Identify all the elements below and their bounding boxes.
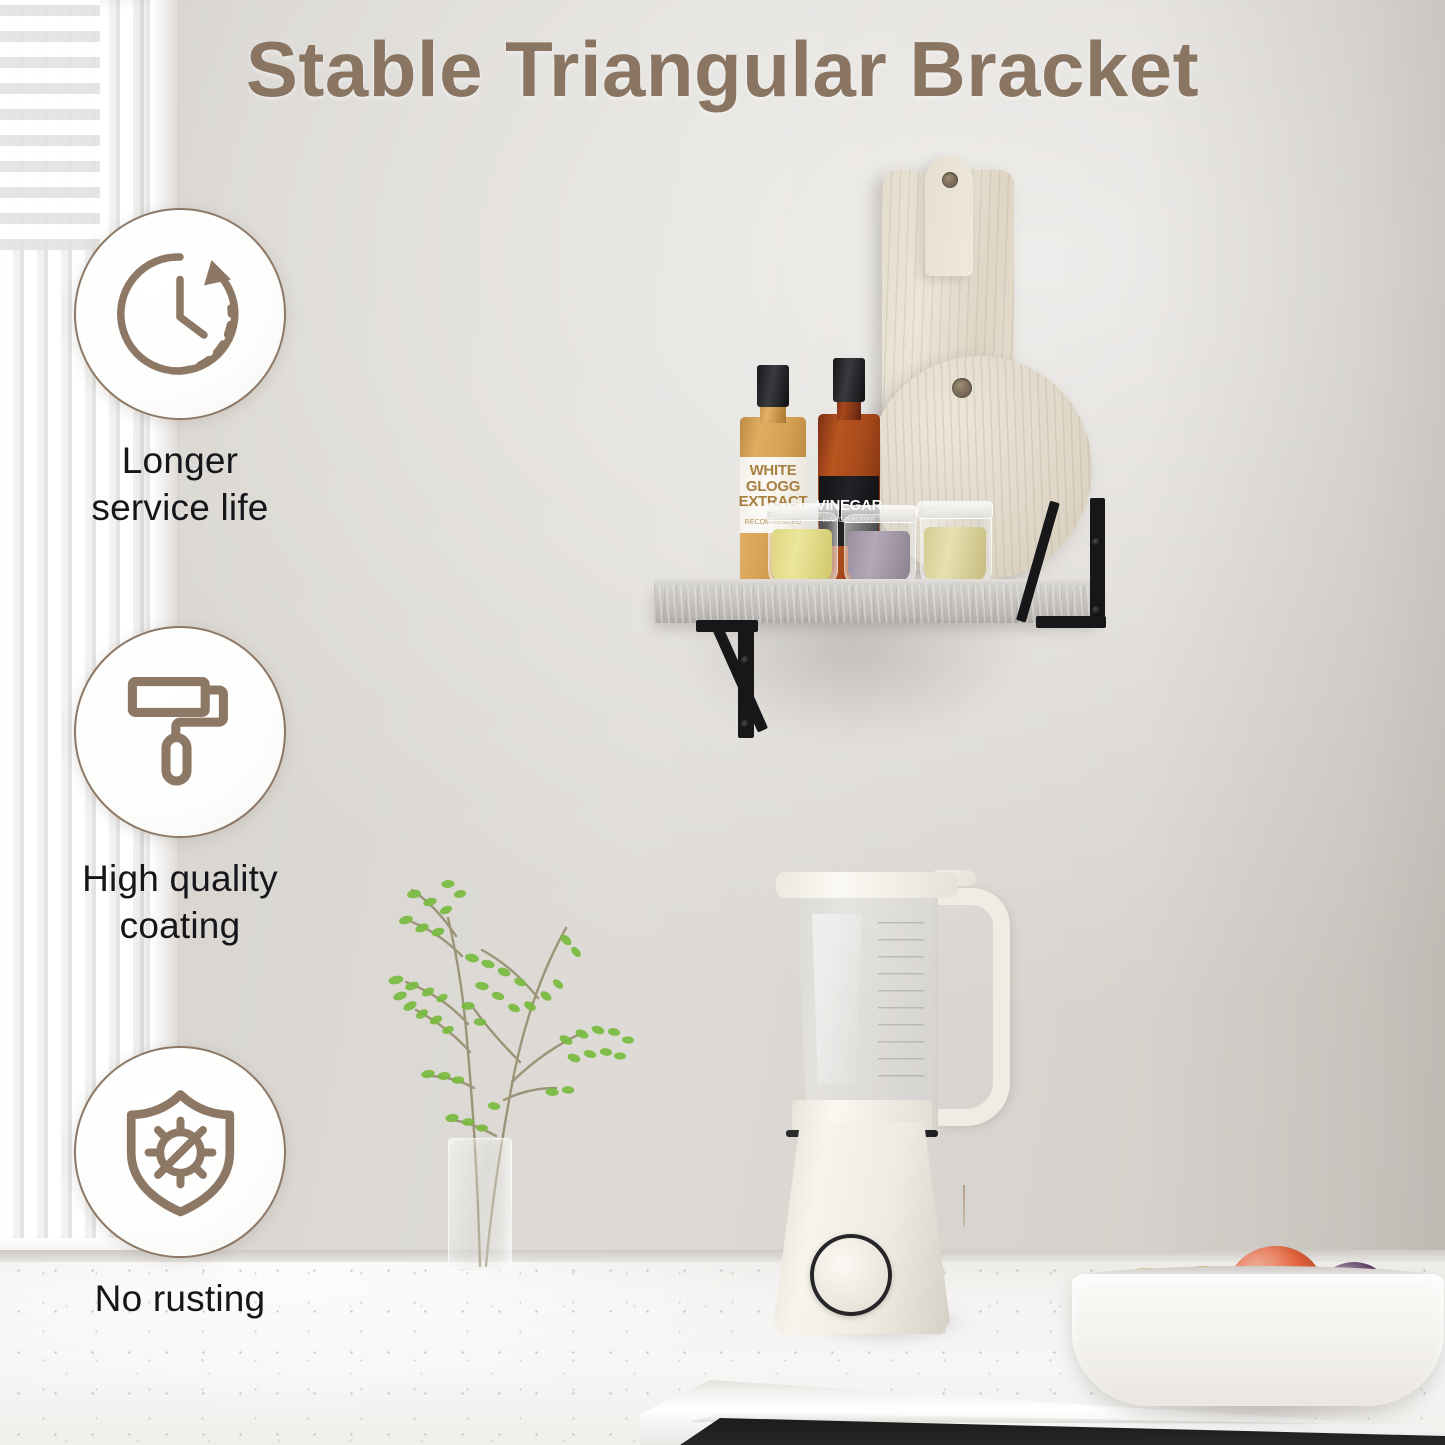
feature-longer-service-life: Longer service life [30,208,330,531]
jar-contents [924,527,986,583]
feature-icon-badge [74,208,286,420]
hanging-hole [942,172,958,188]
bracket-screw [741,656,750,665]
bracket-screw [741,720,750,729]
white-ceramic-fruit-bowl [1072,1274,1444,1406]
cutting-board-handle [925,156,973,276]
jar-lid [917,501,993,519]
floating-shelf: WHITE GLOGG EXTRACT NO RECOMMENDED VINEG… [640,160,1140,760]
clock-arrow-icon [105,239,255,389]
triangular-bracket-left [698,620,813,738]
triangular-bracket-right [1032,498,1112,628]
blender-measuring-scale [878,922,924,1082]
wall-corner-shading [1145,0,1445,1300]
product-feature-image: Stable Triangular Bracket Longer service… [0,0,1445,1445]
feature-icon-badge [74,626,286,838]
feature-label-line2: coating [30,903,330,950]
bottle-cap [757,365,789,407]
paint-roller-icon [110,662,250,802]
hanging-hole [952,378,972,398]
bracket-top-arm [696,620,758,632]
glass-vase [448,1138,512,1272]
feature-icon-badge [74,1046,286,1258]
bracket-screw [1092,538,1101,547]
feature-label: Longer service life [30,438,330,531]
feature-label-line1: High quality [30,856,330,903]
page-title: Stable Triangular Bracket [0,24,1445,115]
jar-contents [772,529,832,583]
countertop-blender [752,862,1020,1344]
jar-lid [841,505,917,523]
shield-no-rust-icon [108,1080,253,1225]
feature-high-quality-coating: High quality coating [30,626,330,949]
blender-lid [776,872,958,898]
blender-handle [938,888,1010,1126]
bottle-label-line1: WHITE [750,463,797,478]
jar-yellow-grain [768,512,836,586]
feature-no-rusting: No rusting [30,1046,330,1323]
branch-plant-in-glass-vase [352,800,722,1270]
feature-label: No rusting [30,1276,330,1323]
jar-contents [848,531,910,583]
fruit-bowl-group [1068,1196,1445,1436]
jar-grey-grain [844,514,914,586]
bracket-bottom-arm [1036,616,1106,628]
bottle-cap [833,358,865,402]
bottle-label-line2: GLOGG [746,479,800,494]
feature-label-line2: service life [30,485,330,532]
feature-label-line1: No rusting [30,1276,330,1323]
feature-label-line1: Longer [30,438,330,485]
jar-lid [765,503,839,521]
jar-mixed-grain [920,510,990,586]
feature-label: High quality coating [30,856,330,949]
blender-control-dial[interactable] [810,1234,892,1316]
bracket-screw [1092,606,1101,615]
plant-branches-icon [352,800,722,1270]
